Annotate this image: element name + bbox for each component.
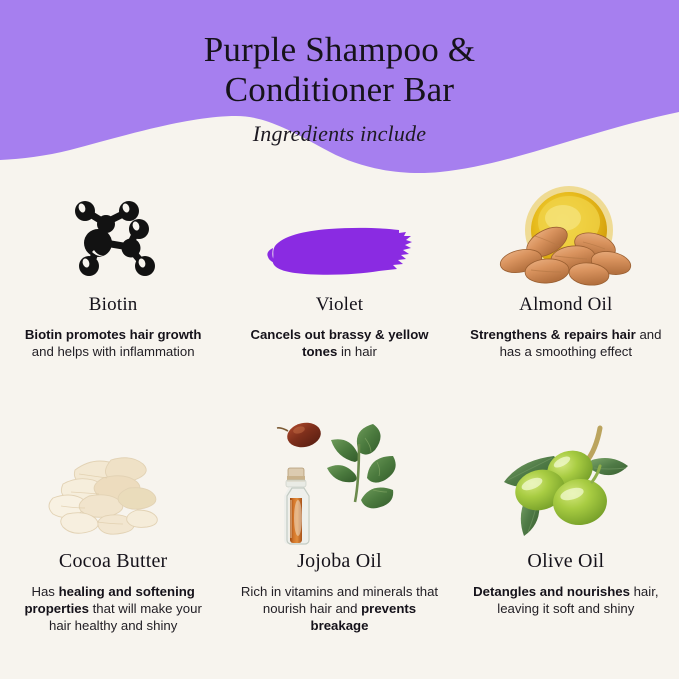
ingredient-name: Almond Oil xyxy=(519,294,612,316)
violet-brush-stroke-icon xyxy=(259,216,419,290)
ingredient-description: Has healing and softening properties tha… xyxy=(14,584,212,634)
ingredient-card-almond-oil: Almond Oil Strengthens & repairs hair an… xyxy=(453,178,679,418)
ingredient-card-olive-oil: Olive Oil Detangles and nourishes hair, … xyxy=(453,418,679,663)
ingredient-description: Rich in vitamins and minerals that nouri… xyxy=(240,584,438,634)
cocoa-butter-flakes-icon xyxy=(33,426,193,546)
purple-wave-shape xyxy=(0,0,679,173)
jojoba-oil-art xyxy=(261,418,417,546)
jojoba-oil-bottle-icon xyxy=(261,418,417,546)
ingredient-name: Olive Oil xyxy=(527,550,604,573)
ingredients-grid: Biotin Biotin promotes hair growth and h… xyxy=(0,178,679,663)
ingredient-name: Jojoba Oil xyxy=(297,550,382,573)
header-wave-background xyxy=(0,0,679,185)
infographic-page: Purple Shampoo & Conditioner Bar Ingredi… xyxy=(0,0,679,679)
cocoa-butter-art xyxy=(33,418,193,546)
ingredient-description: Biotin promotes hair growth and helps wi… xyxy=(14,327,212,361)
ingredient-card-violet: Violet Cancels out brassy & yellow tones… xyxy=(226,178,452,418)
ingredient-card-cocoa-butter: Cocoa Butter Has healing and softening p… xyxy=(0,418,226,663)
olive-branch-icon xyxy=(488,422,644,546)
almond-oil-bowl-icon xyxy=(491,178,641,290)
ingredient-name: Biotin xyxy=(89,294,138,316)
biotin-art xyxy=(61,178,165,290)
ingredient-name: Violet xyxy=(316,294,364,316)
ingredient-description: Cancels out brassy & yellow tones in hai… xyxy=(240,327,438,361)
ingredient-description: Strengthens & repairs hair and has a smo… xyxy=(467,327,665,361)
violet-art xyxy=(259,178,419,290)
ingredient-description: Detangles and nourishes hair, leaving it… xyxy=(467,584,665,618)
biotin-molecule-icon xyxy=(61,190,165,290)
olive-oil-art xyxy=(488,418,644,546)
ingredient-name: Cocoa Butter xyxy=(59,550,167,573)
ingredient-card-jojoba-oil: Jojoba Oil Rich in vitamins and minerals… xyxy=(226,418,452,663)
ingredient-card-biotin: Biotin Biotin promotes hair growth and h… xyxy=(0,178,226,418)
almond-oil-art xyxy=(491,178,641,290)
